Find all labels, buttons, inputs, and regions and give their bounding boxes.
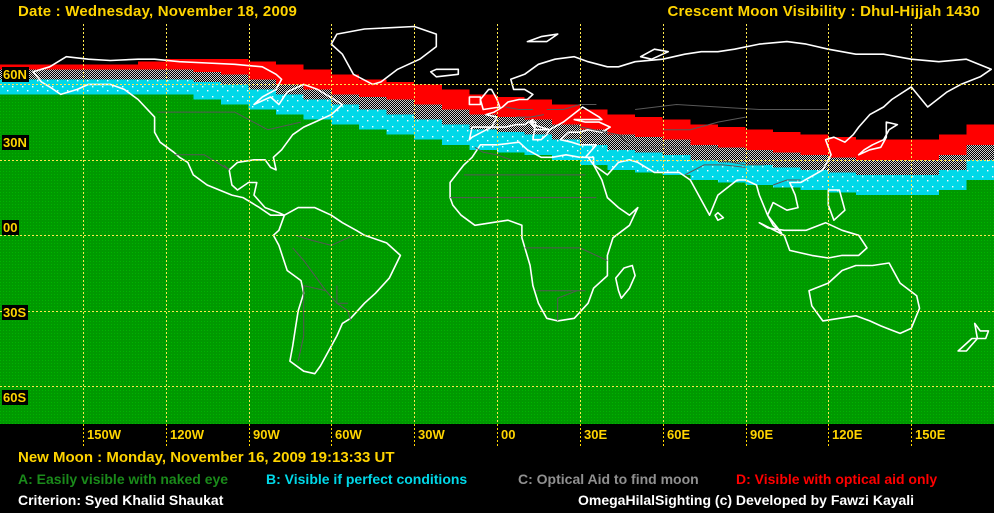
- lon-tick-150e: [911, 424, 912, 446]
- gridline-lat-60s: [0, 386, 994, 387]
- lon-tick-60w: [331, 424, 332, 446]
- lon-tick-30e: [580, 424, 581, 446]
- lon-label-150e: 150E: [915, 427, 945, 442]
- lon-tick-00: [497, 424, 498, 446]
- gridline-lat-30s: [0, 311, 994, 312]
- lon-tick-120e: [828, 424, 829, 446]
- brand-label: OmegaHilalSighting (c) Developed by Fawz…: [578, 492, 914, 508]
- legend-item-b: B: Visible if perfect conditions: [266, 471, 467, 487]
- lon-label-30w: 30W: [418, 427, 445, 442]
- legend-item-d: D: Visible with optical aid only: [736, 471, 937, 487]
- lat-label-60s: 60S: [2, 390, 28, 405]
- lon-tick-150w: [83, 424, 84, 446]
- lon-tick-30w: [414, 424, 415, 446]
- lon-label-30e: 30E: [584, 427, 607, 442]
- lat-label-30n: 30N: [2, 135, 29, 150]
- gridline-lat-00: [0, 235, 994, 236]
- new-moon-label: New Moon : Monday, November 16, 2009 19:…: [18, 449, 395, 466]
- lon-tick-60e: [663, 424, 664, 446]
- lat-label-60n: 60N: [2, 67, 29, 82]
- gridline-lat-60n: [0, 84, 994, 85]
- lon-tick-120w: [166, 424, 167, 446]
- lon-label-60e: 60E: [667, 427, 690, 442]
- page-title: Crescent Moon Visibility : Dhul-Hijjah 1…: [667, 3, 980, 20]
- date-label: Date : Wednesday, November 18, 2009: [18, 3, 297, 20]
- lon-tick-90w: [249, 424, 250, 446]
- longitude-axis: 150W120W90W60W30W0030E60E90E120E150E: [0, 424, 994, 448]
- lon-label-90w: 90W: [253, 427, 280, 442]
- gridline-lat-30n: [0, 160, 994, 161]
- criterion-label: Criterion: Syed Khalid Shaukat: [18, 492, 223, 508]
- lat-label-30s: 30S: [2, 305, 28, 320]
- crescent-moon-visibility-map: Date : Wednesday, November 18, 2009 Cres…: [0, 0, 994, 513]
- legend-item-a: A: Easily visible with naked eye: [18, 471, 228, 487]
- header: Date : Wednesday, November 18, 2009 Cres…: [0, 0, 994, 24]
- lon-tick-90e: [746, 424, 747, 446]
- lon-label-00: 00: [501, 427, 515, 442]
- lon-label-90e: 90E: [750, 427, 773, 442]
- lon-label-150w: 150W: [87, 427, 121, 442]
- lon-label-120e: 120E: [832, 427, 862, 442]
- lon-label-120w: 120W: [170, 427, 204, 442]
- legend-item-c: C: Optical Aid to find moon: [518, 471, 699, 487]
- lat-label-00: 00: [2, 220, 19, 235]
- lon-label-60w: 60W: [335, 427, 362, 442]
- world-map: 60N 30N 00 30S 60S: [0, 24, 994, 424]
- footer: New Moon : Monday, November 16, 2009 19:…: [0, 448, 994, 513]
